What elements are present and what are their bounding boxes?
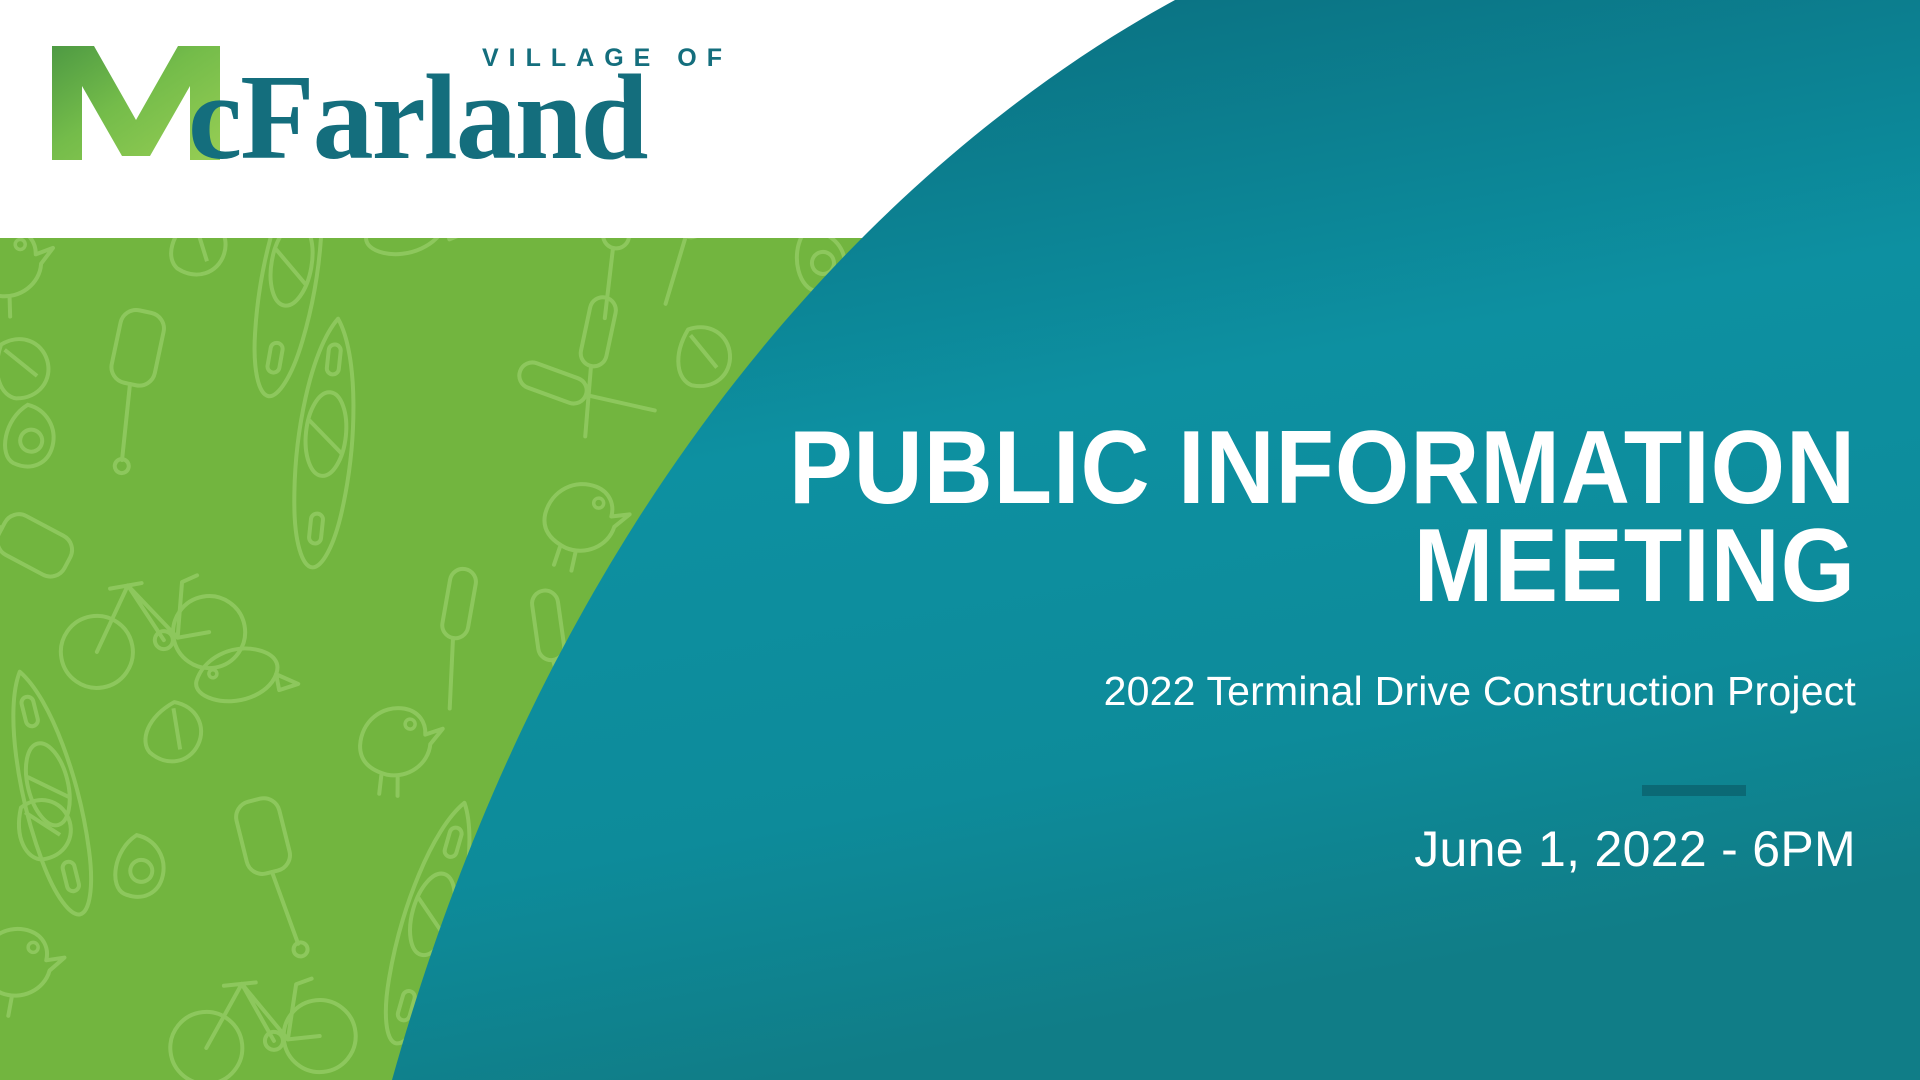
announcement-content: PUBLIC INFORMATION MEETING 2022 Terminal… — [536, 420, 1856, 878]
event-datetime: June 1, 2022 - 6PM — [536, 820, 1856, 878]
poster-canvas: VILLAGE OF cFarland PUBLIC INFORMATION M… — [0, 0, 1920, 1080]
project-subtitle: 2022 Terminal Drive Construction Project — [536, 668, 1856, 715]
logo-wordmark-text: cFarland — [188, 50, 648, 178]
divider-rule — [1642, 785, 1746, 796]
village-logo: VILLAGE OF cFarland — [38, 28, 778, 178]
village-of-mcfarland-logo: VILLAGE OF cFarland — [38, 28, 778, 178]
divider-wrapper — [536, 785, 1856, 796]
page-title: PUBLIC INFORMATION MEETING — [642, 420, 1856, 616]
headline-line-2: MEETING — [642, 518, 1856, 616]
